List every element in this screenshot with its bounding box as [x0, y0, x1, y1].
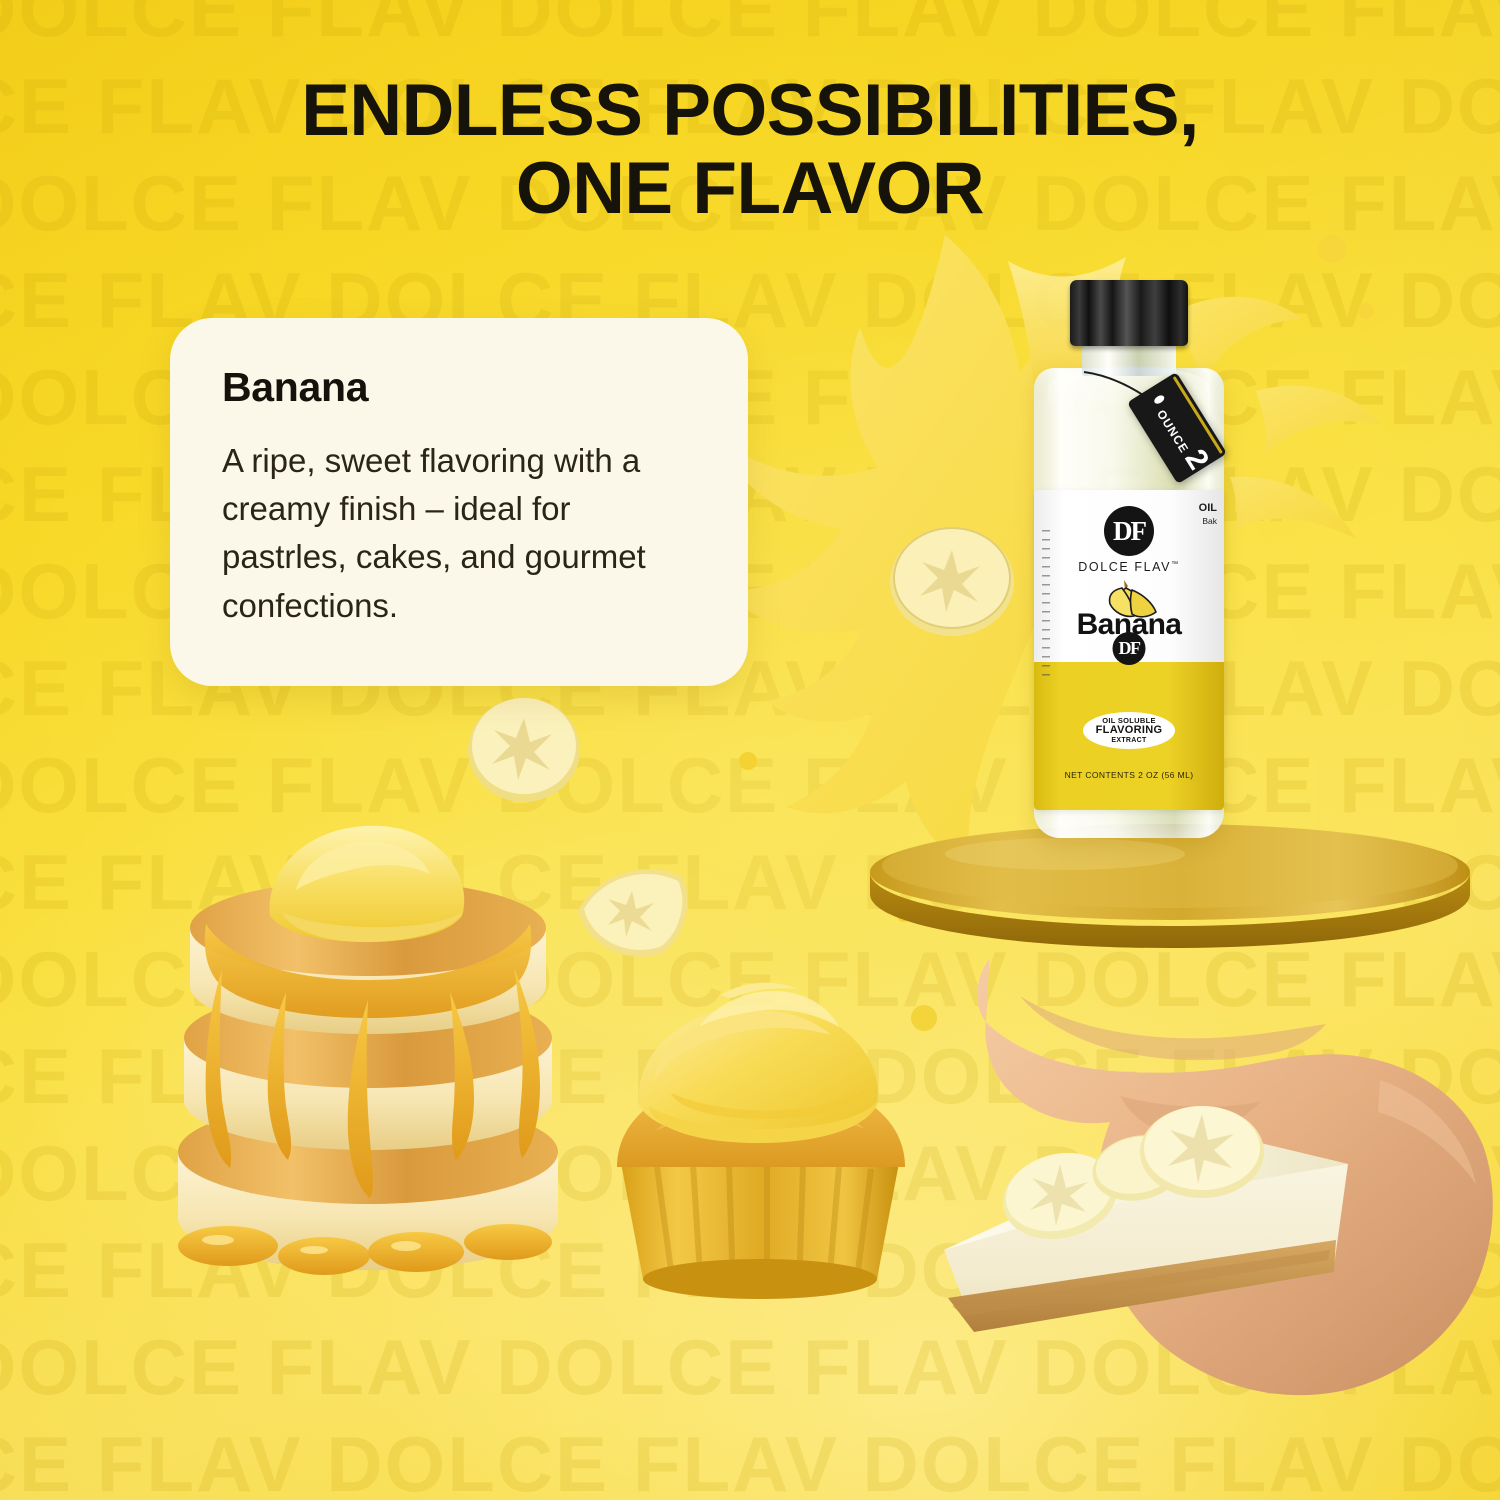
page-title: ENDLESS POSSIBILITIES, ONE FLAVOR	[0, 72, 1500, 228]
side-text-line1: OIL	[1191, 502, 1217, 516]
product-label: DF DOLCE FLAV™ Banana DF OIL Bak	[1034, 490, 1224, 810]
side-text-line2: Bak	[1191, 516, 1217, 527]
cheesecake-slice	[930, 1060, 1380, 1370]
product-marketing-image: DOLCE FLAV DOLCE FLAV DOLCE FLAV DOLCE F…	[0, 0, 1500, 1500]
brand-logo-small-icon: DF	[1113, 632, 1146, 665]
cupcake	[595, 955, 925, 1295]
banana-slice-icon	[460, 690, 590, 815]
label-side-text: OIL Bak	[1191, 502, 1217, 526]
flavor-info-card: Banana A ripe, sweet flavoring with a cr…	[170, 318, 748, 686]
headline-line2: ONE FLAVOR	[0, 150, 1500, 228]
bottle-cap	[1070, 280, 1188, 346]
hang-tag-unit: OUNCE	[1154, 407, 1191, 455]
trademark-symbol: ™	[1171, 561, 1180, 568]
pancake-stack	[110, 800, 630, 1330]
logo-monogram: DF	[1113, 516, 1145, 547]
flavor-card-title: Banana	[222, 364, 696, 411]
headline-line1: ENDLESS POSSIBILITIES,	[301, 70, 1199, 151]
badge-line2: FLAVORING	[1096, 725, 1163, 737]
brand-logo-icon: DF	[1104, 506, 1154, 556]
label-measure-ticks	[1042, 530, 1050, 680]
label-badge: OIL SOLUBLE FLAVORING EXTRACT	[1083, 712, 1175, 749]
brand-name-text: DOLCE FLAV	[1078, 560, 1171, 574]
badge-line3: EXTRACT	[1111, 737, 1146, 745]
logo-monogram-small: DF	[1119, 638, 1140, 659]
hang-tag-hole	[1153, 394, 1166, 406]
net-contents: NET CONTENTS 2 OZ (56 ML)	[1034, 770, 1224, 780]
flavor-card-description: A ripe, sweet flavoring with a creamy fi…	[222, 437, 696, 630]
product-bottle: OUNCE 2 DF DOLCE FLAV™	[1008, 280, 1248, 850]
brand-name: DOLCE FLAV™	[1034, 560, 1224, 574]
